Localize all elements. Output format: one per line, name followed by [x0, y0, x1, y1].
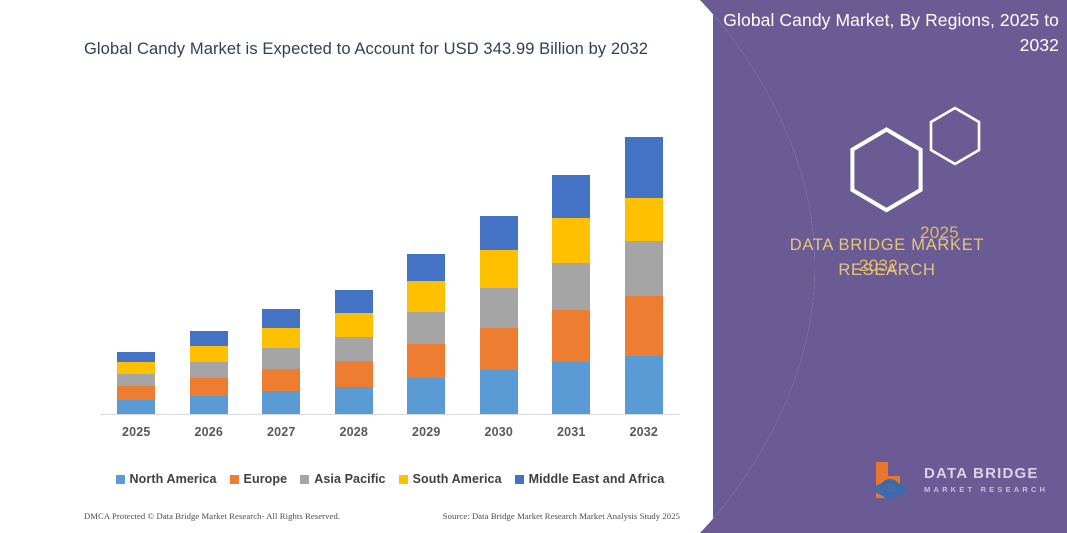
footer-source: Source: Data Bridge Market Research Mark…: [443, 511, 680, 521]
bar-segment[interactable]: [552, 218, 590, 263]
x-axis-tick-label: 2031: [557, 425, 586, 439]
logo-text-bottom: MARKET RESEARCH: [924, 485, 1048, 494]
chart-legend: North AmericaEuropeAsia PacificSouth Ame…: [100, 472, 680, 486]
bar-segment[interactable]: [407, 378, 445, 415]
legend-item[interactable]: Europe: [230, 472, 288, 486]
bar-segment[interactable]: [480, 250, 518, 288]
bar-segment[interactable]: [335, 361, 373, 387]
bar-segment[interactable]: [625, 137, 663, 198]
bar-segment[interactable]: [117, 374, 155, 386]
panel-content: Global Candy Market, By Regions, 2025 to…: [707, 0, 1067, 533]
bar-segment[interactable]: [407, 344, 445, 378]
data-bridge-logo: DATA BRIDGE MARKET RESEARCH: [866, 458, 1051, 506]
stacked-bar[interactable]: [480, 216, 518, 415]
legend-swatch-icon: [399, 475, 408, 484]
legend-item[interactable]: Middle East and Africa: [515, 472, 665, 486]
bar-segment[interactable]: [552, 362, 590, 415]
x-label-slot: 2030: [463, 423, 536, 445]
page-title: Global Candy Market is Expected to Accou…: [60, 36, 672, 62]
x-axis-line: [100, 414, 680, 415]
logo-text-top: DATA BRIDGE: [924, 465, 1039, 482]
bar-slot: [245, 130, 318, 415]
x-axis-tick-label: 2027: [267, 425, 296, 439]
bar-segment[interactable]: [335, 337, 373, 361]
bar-segment[interactable]: [625, 356, 663, 415]
x-axis-tick-label: 2028: [339, 425, 368, 439]
bar-segment[interactable]: [117, 352, 155, 362]
legend-label: Europe: [244, 472, 288, 486]
x-axis-tick-label: 2030: [484, 425, 513, 439]
x-label-slot: 2026: [173, 423, 246, 445]
x-axis-tick-label: 2026: [194, 425, 223, 439]
legend-swatch-icon: [515, 475, 524, 484]
bar-segment[interactable]: [262, 391, 300, 415]
x-axis-tick-label: 2032: [629, 425, 658, 439]
footer: DMCA Protected © Data Bridge Market Rese…: [84, 508, 680, 524]
bar-segment[interactable]: [335, 290, 373, 313]
legend-item[interactable]: Asia Pacific: [300, 472, 385, 486]
bar-segment[interactable]: [335, 313, 373, 337]
legend-swatch-icon: [116, 475, 125, 484]
legend-label: Middle East and Africa: [529, 472, 665, 486]
x-axis-tick-label: 2029: [412, 425, 441, 439]
stacked-bar[interactable]: [262, 309, 300, 415]
bar-segment[interactable]: [480, 288, 518, 328]
bar-segment[interactable]: [552, 263, 590, 310]
bar-segment[interactable]: [552, 175, 590, 218]
bar-segment[interactable]: [407, 281, 445, 312]
brand-line-1: DATA BRIDGE MARKET: [707, 233, 1067, 258]
bar-segment[interactable]: [190, 362, 228, 378]
bar-slot: [535, 130, 608, 415]
x-label-slot: 2029: [390, 423, 463, 445]
bar-segment[interactable]: [117, 362, 155, 374]
bar-segment[interactable]: [335, 387, 373, 415]
bar-segment[interactable]: [190, 396, 228, 415]
bar-slot: [173, 130, 246, 415]
bar-slot: [390, 130, 463, 415]
x-axis-tick-label: 2025: [122, 425, 151, 439]
legend-label: North America: [130, 472, 217, 486]
bar-segment[interactable]: [117, 386, 155, 400]
legend-label: South America: [413, 472, 502, 486]
bar-segment[interactable]: [262, 369, 300, 391]
stacked-bar[interactable]: [407, 254, 445, 415]
stacked-bar[interactable]: [552, 175, 590, 415]
x-axis-labels: 20252026202720282029203020312032: [100, 423, 680, 445]
hexagon-badges: 2032 2025: [707, 95, 1067, 230]
stacked-bar[interactable]: [190, 331, 228, 415]
bar-segment[interactable]: [117, 400, 155, 415]
brand-line-2: RESEARCH: [707, 258, 1067, 283]
brand-name: DATA BRIDGE MARKET RESEARCH: [707, 233, 1067, 283]
stacked-bar[interactable]: [335, 290, 373, 415]
bar-segment[interactable]: [262, 348, 300, 369]
x-label-slot: 2032: [608, 423, 681, 445]
legend-item[interactable]: South America: [399, 472, 502, 486]
bar-slot: [463, 130, 536, 415]
stacked-bar[interactable]: [625, 137, 663, 415]
x-label-slot: 2031: [535, 423, 608, 445]
bar-segment[interactable]: [625, 296, 663, 356]
logo-mark-icon: [872, 462, 908, 498]
panel-title: Global Candy Market, By Regions, 2025 to…: [717, 8, 1059, 58]
bar-segment[interactable]: [552, 310, 590, 362]
legend-swatch-icon: [230, 475, 239, 484]
x-label-slot: 2027: [245, 423, 318, 445]
bar-segment[interactable]: [190, 346, 228, 362]
bar-segment[interactable]: [262, 309, 300, 328]
bar-segment[interactable]: [262, 328, 300, 348]
legend-label: Asia Pacific: [314, 472, 385, 486]
bar-slot: [608, 130, 681, 415]
legend-swatch-icon: [300, 475, 309, 484]
infographic-root: Global Candy Market, By Regions, 2025 to…: [0, 0, 1067, 533]
bar-segment[interactable]: [480, 216, 518, 250]
bar-segment[interactable]: [480, 370, 518, 415]
footer-copyright: DMCA Protected © Data Bridge Market Rese…: [84, 511, 340, 521]
chart-plot-area: [100, 130, 680, 415]
stacked-bar[interactable]: [117, 352, 155, 415]
bar-slot: [100, 130, 173, 415]
bar-segment[interactable]: [407, 254, 445, 281]
bar-slot: [318, 130, 391, 415]
legend-item[interactable]: North America: [116, 472, 217, 486]
bar-segment[interactable]: [480, 328, 518, 370]
x-label-slot: 2028: [318, 423, 391, 445]
bar-group: [100, 130, 680, 415]
bar-segment[interactable]: [407, 312, 445, 344]
bar-segment[interactable]: [190, 378, 228, 396]
bar-segment[interactable]: [190, 331, 228, 346]
bar-segment[interactable]: [625, 241, 663, 296]
bar-segment[interactable]: [625, 198, 663, 241]
x-label-slot: 2025: [100, 423, 173, 445]
